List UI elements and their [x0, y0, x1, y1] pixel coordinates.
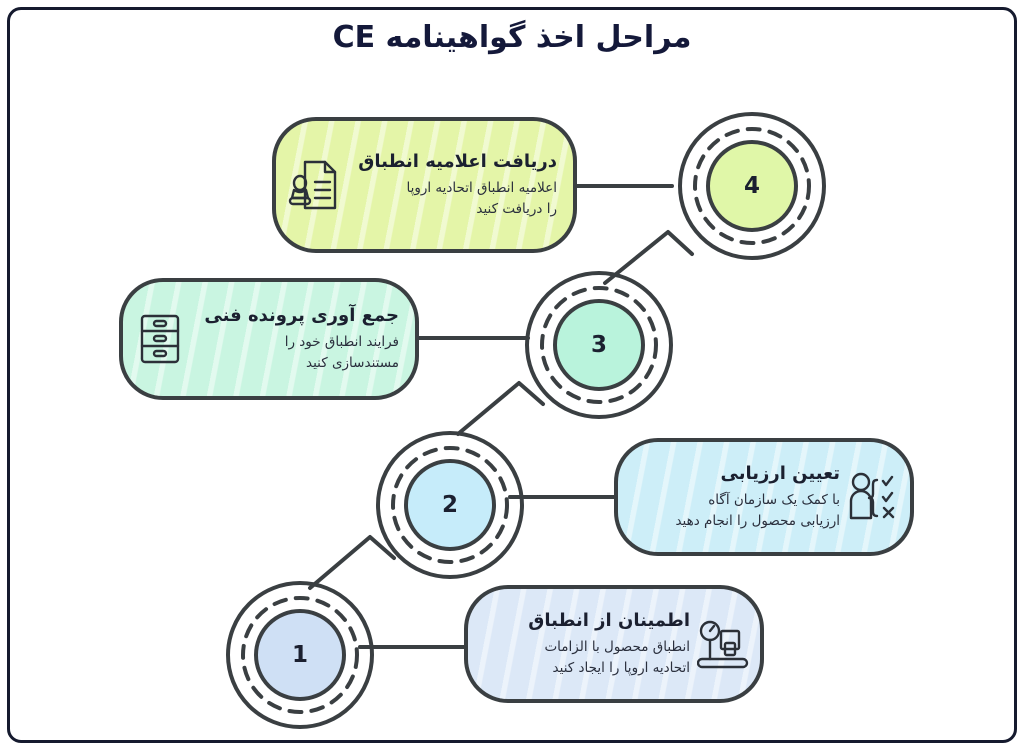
person-checklist-icon — [846, 469, 900, 525]
step-card-2-title: تعیین ارزیابی — [634, 462, 840, 486]
step-card-4[interactable]: دریافت اعلامیه انطباق اعلامیه انطباق اتح… — [272, 117, 577, 253]
step-card-2-desc-line2: ارزیابی محصول را انجام دهید — [634, 511, 840, 532]
step-card-4-title: دریافت اعلامیه انطباق — [346, 150, 557, 174]
file-cabinet-icon — [133, 311, 187, 367]
step-circle-2[interactable]: 2 — [370, 425, 530, 585]
step-circle-1[interactable]: 1 — [220, 575, 380, 735]
step-card-3-desc-line2: مستندسازی کنید — [193, 353, 399, 374]
step-circle-1-number: 1 — [220, 575, 380, 735]
step-card-3-title: جمع آوری پرونده فنی — [193, 304, 399, 328]
step-circle-4[interactable]: 4 — [672, 106, 832, 266]
infographic-canvas: مراحل اخذ گواهینامه CE دریافت اعلامیه ان… — [0, 0, 1024, 750]
step-card-1-title: اطمینان از انطباق — [484, 609, 690, 633]
step-circle-3-number: 3 — [519, 265, 679, 425]
step-card-1[interactable]: اطمینان از انطباق انطباق محصول با الزاما… — [464, 585, 764, 703]
step-card-4-desc-line1: اعلامیه انطباق اتحادیه اروپا — [346, 178, 557, 199]
step-circle-4-number: 4 — [672, 106, 832, 266]
step-circle-2-number: 2 — [370, 425, 530, 585]
step-card-2-desc-line1: با کمک یک سازمان آگاه — [634, 490, 840, 511]
weighing-scale-icon — [696, 616, 750, 672]
step-card-3-desc-line1: فرایند انطباق خود را — [193, 332, 399, 353]
step-card-4-desc-line2: را دریافت کنید — [346, 199, 557, 220]
step-card-2[interactable]: تعیین ارزیابی با کمک یک سازمان آگاه ارزی… — [614, 438, 914, 556]
document-stamp-icon — [286, 157, 340, 213]
step-circle-3[interactable]: 3 — [519, 265, 679, 425]
step-card-1-desc-line2: اتحادیه اروپا را ایجاد کنید — [484, 658, 690, 679]
step-card-3[interactable]: جمع آوری پرونده فنی فرایند انطباق خود را… — [119, 278, 419, 400]
step-card-1-desc-line1: انطباق محصول با الزامات — [484, 637, 690, 658]
